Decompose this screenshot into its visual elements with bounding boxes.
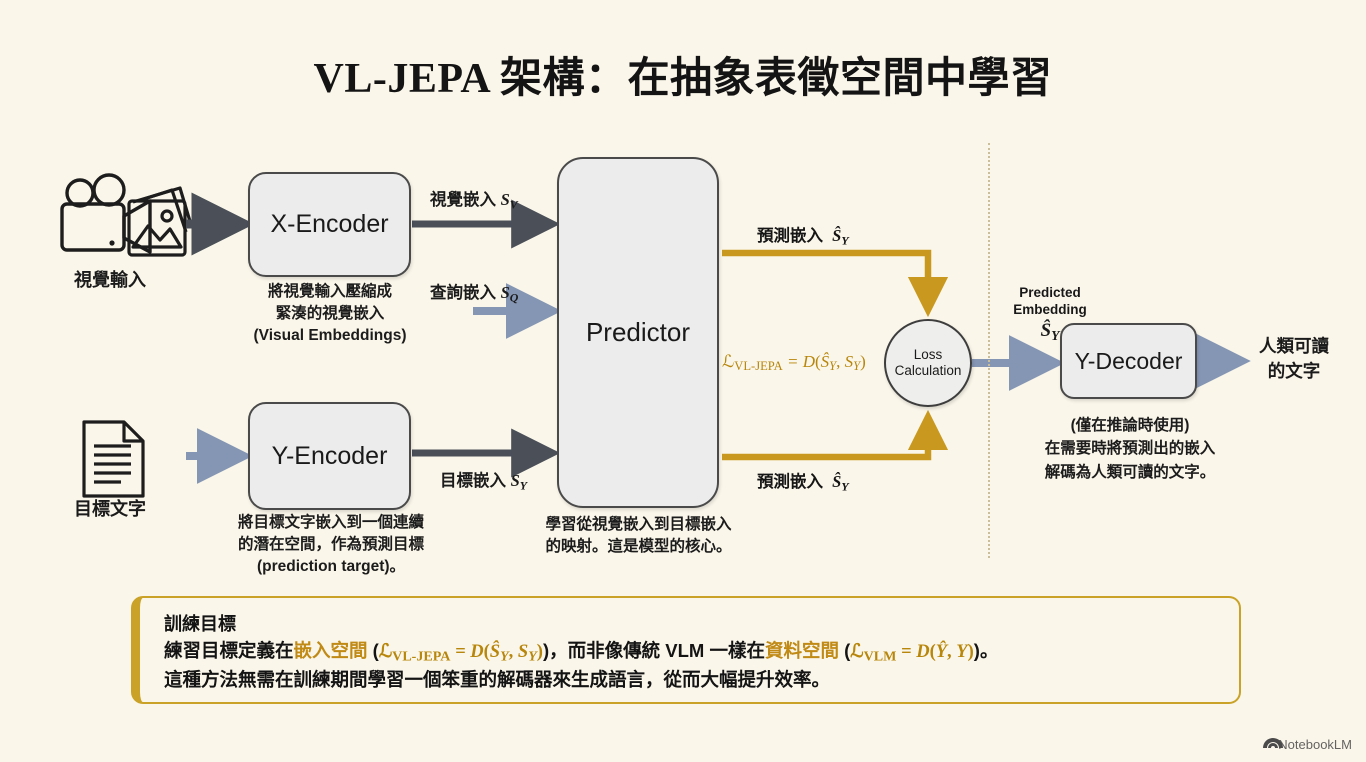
query-embedding-symbol: S — [501, 283, 510, 302]
to-formula-vlm: ℒVLM = D(Ŷ, Y) — [850, 642, 973, 662]
x-encoder-block[interactable]: X-Encoder — [248, 172, 411, 277]
predicted-embedding-top-symbol: Ŝ — [832, 226, 841, 245]
y-encoder-caption-line-1: 的潛在空間，作為預測目標 — [196, 534, 466, 556]
x-encoder-caption-line-1: 緊湊的視覺嵌入 — [206, 303, 454, 325]
y-encoder-caption: 將目標文字嵌入到一個連續 的潛在空間，作為預測目標 (prediction ta… — [196, 512, 466, 578]
loss-calculation-node[interactable]: Loss Calculation — [884, 319, 972, 407]
target-text-label: 目標文字 — [20, 495, 200, 521]
target-embedding-label: 目標嵌入 SY — [440, 467, 527, 493]
predicted-embedding-en-label: Predicted Embedding — [990, 285, 1110, 319]
shat-sub: Y — [1051, 328, 1059, 343]
to-line1-c: )，而非像傳統 VLM 一樣在 — [543, 640, 765, 661]
loss-formula-label: ℒVL-JEPA = D(ŜY, SY) — [722, 352, 866, 374]
y-encoder-label: Y-Encoder — [272, 442, 388, 471]
predictor-label: Predictor — [586, 317, 690, 348]
visual-input-label: 視覺輸入 — [20, 266, 200, 292]
training-objective-title: 訓練目標 — [164, 610, 1219, 636]
predicted-embedding-bottom-sub: Y — [841, 479, 848, 493]
human-readable-line2: 的文字 — [1228, 359, 1360, 384]
visual-embedding-symbol: S — [501, 190, 510, 209]
y-decoder-caption-line-2: 解碼為人類可讀的文字。 — [995, 461, 1265, 484]
to-line1-d: ( — [839, 640, 850, 661]
predicted-embedding-bottom-symbol: Ŝ — [832, 472, 841, 491]
predictor-caption-line-1: 的映射。這是模型的核心。 — [500, 536, 777, 558]
x-encoder-caption-line-0: 將視覺輸入壓縮成 — [206, 281, 454, 303]
y-decoder-caption: (僅在推論時使用) 在需要時將預測出的嵌入 解碼為人類可讀的文字。 — [995, 414, 1265, 484]
to-line1-e: )。 — [974, 640, 999, 661]
to-highlight-data-space: 資料空間 — [765, 640, 839, 661]
to-line1-a: 練習目標定義在 — [164, 640, 294, 661]
predicted-embedding-bottom-label: 預測嵌入 ŜY — [757, 468, 849, 494]
video-camera-icon — [62, 175, 150, 252]
visual-embedding-sub: V — [510, 197, 518, 211]
to-line1-b: ( — [368, 640, 379, 661]
visual-embedding-text: 視覺嵌入 — [430, 191, 496, 209]
y-decoder-caption-line-0: (僅在推論時使用) — [995, 414, 1265, 437]
page-title: VL-JEPA 架構：在抽象表徵空間中學習 — [0, 44, 1366, 105]
y-encoder-block[interactable]: Y-Encoder — [248, 402, 411, 510]
notebooklm-watermark: NotebookLM — [1253, 737, 1352, 752]
training-objective-line-2: 這種方法無需在訓練期間學習一個笨重的解碼器來生成語言，從而大幅提升效率。 — [164, 667, 1219, 693]
to-highlight-embedding-space: 嵌入空間 — [294, 640, 368, 661]
loss-label-line2: Calculation — [895, 363, 962, 379]
training-objective-callout: 訓練目標 練習目標定義在嵌入空間 (ℒVL-JEPA = D(ŜY, SY))，… — [131, 596, 1241, 704]
document-icon — [84, 422, 143, 496]
predicted-embedding-en-line1: Predicted — [990, 285, 1110, 302]
query-embedding-sub: Q — [510, 290, 519, 304]
x-encoder-caption: 將視覺輸入壓縮成 緊湊的視覺嵌入 (Visual Embeddings) — [206, 281, 454, 347]
predicted-embedding-top-sub: Y — [841, 233, 848, 247]
target-embedding-symbol: S — [511, 471, 520, 490]
query-embedding-text: 查詢嵌入 — [430, 284, 496, 302]
predicted-embedding-en-line2: Embedding — [990, 302, 1110, 319]
target-embedding-sub: Y — [520, 478, 527, 492]
to-formula-vljepa: ℒVL-JEPA = D(ŜY, SY) — [379, 642, 543, 662]
x-encoder-caption-line-2: (Visual Embeddings) — [206, 325, 454, 347]
image-stack-icon — [129, 188, 192, 255]
predictor-caption: 學習從視覺嵌入到目標嵌入 的映射。這是模型的核心。 — [500, 514, 777, 558]
predicted-embedding-top-text: 預測嵌入 — [757, 227, 823, 245]
diagram-canvas: VL-JEPA 架構：在抽象表徵空間中學習 — [0, 0, 1366, 762]
target-embedding-text: 目標嵌入 — [440, 472, 506, 490]
human-readable-output-label: 人類可讀 的文字 — [1228, 334, 1360, 385]
inference-divider — [988, 143, 990, 558]
gold-path-bottom — [722, 419, 928, 457]
predicted-embedding-top-label: 預測嵌入 ŜY — [757, 222, 849, 248]
predicted-embedding-symbol-label: ŜY — [990, 320, 1110, 344]
shat-symbol: Ŝ — [1041, 320, 1052, 341]
predictor-caption-line-0: 學習從視覺嵌入到目標嵌入 — [500, 514, 777, 536]
gold-path-top — [722, 253, 928, 308]
predicted-embedding-bottom-text: 預測嵌入 — [757, 473, 823, 491]
x-encoder-label: X-Encoder — [270, 210, 388, 239]
predictor-block[interactable]: Predictor — [557, 157, 719, 508]
y-decoder-label: Y-Decoder — [1075, 348, 1183, 375]
loss-label-line1: Loss — [914, 347, 943, 363]
query-embedding-label: 查詢嵌入 SQ — [430, 279, 518, 305]
watermark-label: NotebookLM — [1278, 737, 1352, 752]
y-decoder-caption-line-1: 在需要時將預測出的嵌入 — [995, 437, 1265, 460]
training-objective-line-1: 練習目標定義在嵌入空間 (ℒVL-JEPA = D(ŜY, SY))，而非像傳統… — [164, 638, 1219, 667]
y-encoder-caption-line-0: 將目標文字嵌入到一個連續 — [196, 512, 466, 534]
y-encoder-caption-line-2: (prediction target)。 — [196, 556, 466, 578]
human-readable-line1: 人類可讀 — [1228, 334, 1360, 359]
visual-embedding-label: 視覺嵌入 SV — [430, 186, 518, 212]
